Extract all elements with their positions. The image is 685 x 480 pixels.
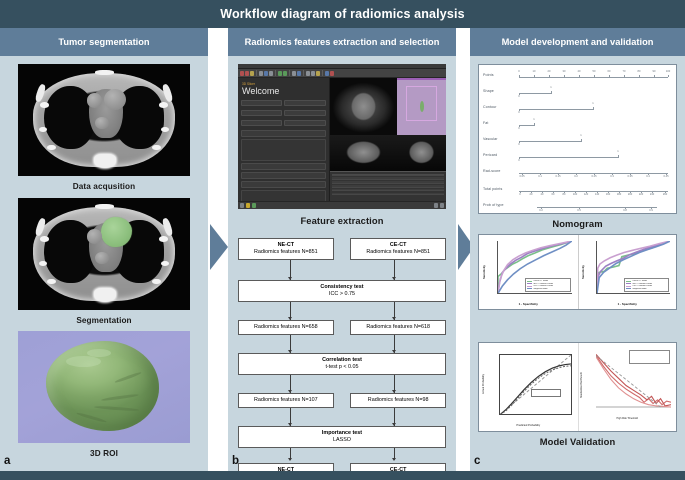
panel-b-body: 3D Slicer Welcome: [228, 56, 456, 471]
slicer-section-data-probe[interactable]: [241, 181, 326, 188]
panel-a-header-label: Tumor segmentation: [54, 37, 153, 47]
nomogram-tick-label: 20: [530, 193, 533, 196]
panel-letter-b: b: [232, 455, 239, 467]
nomogram-tick-label: 240: [650, 193, 654, 196]
roc-x-axis-label: 1 - Specificity: [479, 302, 578, 306]
flow-node-consistency-test: Consistency test ICC > 0.75: [238, 280, 446, 302]
toolbar-icon-layout[interactable]: [292, 71, 296, 76]
panel-b-header: Radiomics features extraction and select…: [228, 28, 456, 56]
ct-image-segmentation: [18, 198, 190, 310]
nomogram-tick-label: 40: [578, 70, 581, 73]
status-icon-memory: [434, 203, 438, 208]
decision-curve-x-axis-label: High Risk Threshold: [579, 417, 677, 420]
roc-legend-validation: Clinical CT model NE-CT radiomics model …: [624, 278, 669, 292]
nomogram-row-vascular: Vascular 0 1: [479, 133, 676, 149]
roc-curves-card: Sensitivity Clinical CT model: [478, 234, 677, 310]
nomogram-tick-label: 0: [518, 111, 519, 114]
nomogram-tick-label: 100: [666, 70, 670, 73]
nomogram-tick-label: 0.4: [646, 175, 650, 178]
flow-node-ce-ct-98: Radiomics features N=98: [350, 393, 446, 408]
features-table-row: [332, 193, 444, 196]
nomogram-tick-label: 0.15: [555, 175, 560, 178]
panel-a-body: Data acqusition Seg: [0, 56, 208, 471]
nomogram-tick-label: 0: [518, 95, 519, 98]
nomogram-row-label: Points: [483, 73, 494, 77]
flow-node-title: CE-CT: [390, 242, 406, 249]
nomogram-tick-label: 0.3: [610, 175, 614, 178]
slicer-features-table[interactable]: [330, 171, 446, 201]
roc-legend-training: Clinical CT model NE-CT radiomics model …: [525, 278, 570, 292]
nomogram-tick-label: 20: [548, 70, 551, 73]
panel-c-header-label: Model development and validation: [498, 37, 658, 47]
flow-node-title: Importance test: [322, 430, 362, 437]
toolbar-icon-modules[interactable]: [259, 71, 263, 76]
slicer-button-load-data[interactable]: [284, 100, 325, 106]
nomogram-rows: Points 0 10 20 30 40 50 60 70 80 90 100: [479, 65, 676, 213]
flow-node-ne-ct-start: NE-CT Radiomics features N=851: [238, 238, 334, 260]
slicer-welcome-text: Welcome: [242, 86, 279, 96]
calibration-plot: Predicted Probability Actual Probability: [479, 343, 578, 431]
flow-node-detail: ICC > 0.75: [329, 291, 355, 298]
panel-letter-a: a: [4, 455, 10, 467]
decision-curve-y-axis-label: Standardized Net Benefit: [581, 372, 583, 398]
flow-node-detail: Radiomics features N=851: [254, 249, 318, 256]
nomogram-row-label: Shape: [483, 89, 494, 93]
nomogram-tick-label: 30: [563, 70, 566, 73]
radiomics-workflow-figure: Workflow diagram of radiomics analysis T…: [0, 0, 685, 480]
caption-data-acquisition: Data acqusition: [0, 182, 208, 191]
nomogram-tick-label: 0: [518, 127, 519, 130]
flow-node-ne-ct-658: Radiomics features N=658: [238, 320, 334, 335]
nomogram-tick-label: 0.45: [663, 175, 668, 178]
nomogram-row-total-points: Total points 0 20 40 60 80 100 120 140 1…: [479, 183, 676, 199]
model-validation-card: Predicted Probability Actual Probability: [478, 342, 677, 432]
flow-node-detail: LASSO: [333, 437, 351, 444]
caption-3d-roi: 3D ROI: [0, 449, 208, 458]
flow-node-ce-ct-start: CE-CT Radiomics features N=851: [350, 238, 446, 260]
viewport-coronal[interactable]: [330, 135, 398, 172]
nomogram-row-label: Total points: [483, 187, 502, 191]
status-icon-error-log[interactable]: [246, 203, 250, 208]
nomogram-tick-label: 1: [550, 86, 551, 89]
nomogram-tick-label: 90: [653, 70, 656, 73]
nomogram-row-points: Points 0 10 20 30 40 50 60 70 80 90 100: [479, 69, 676, 85]
status-icon-python[interactable]: [240, 203, 244, 208]
slicer-about-text: [241, 139, 326, 161]
nomogram-tick-label: 160: [606, 193, 610, 196]
slicer-section-other[interactable]: [241, 163, 326, 170]
nomogram-tick-label: 1: [533, 118, 534, 121]
status-icon-progress: [252, 203, 256, 208]
nomogram-tick-label: 60: [552, 193, 555, 196]
nomogram-tick-label: 0.8: [623, 209, 627, 212]
nomogram-tick-label: 1: [617, 150, 618, 153]
flow-node-title: NE-CT: [278, 242, 294, 249]
roc-y-axis-label: Sensitivity: [581, 265, 585, 279]
status-icon-cursor: [440, 203, 444, 208]
nomogram-row-contour: Contour 0 1: [479, 101, 676, 117]
roc-y-axis-label: Sensitivity: [482, 265, 486, 279]
panel-c-body: Points 0 10 20 30 40 50 60 70 80 90 100: [470, 56, 685, 471]
panel-model-development-validation: Model development and validation Points …: [470, 28, 685, 471]
nomogram-row-pericard: Pericard 0 1: [479, 149, 676, 165]
toolbar-icon-help[interactable]: [330, 71, 334, 76]
legend-item: Integrated model: [626, 287, 667, 290]
legend-series-name: Integrated model: [632, 288, 646, 290]
toolbar-icon-module-select[interactable]: [264, 71, 268, 76]
nomogram-tick-label: 10: [533, 70, 536, 73]
nomogram-row-label: Rad-score: [483, 169, 500, 173]
toolbar-icon-load[interactable]: [240, 71, 244, 76]
flow-node-detail: Radiomics features N=107: [254, 397, 318, 404]
nomogram-tick-label: 50: [593, 70, 596, 73]
nomogram-row-shape: Shape 0 1: [479, 85, 676, 101]
flow-node-detail: Radiomics features N=98: [368, 397, 429, 404]
viewport-sagittal[interactable]: [397, 135, 446, 172]
roi-3d-rendering: [18, 331, 190, 443]
nomogram-plot: Points 0 10 20 30 40 50 60 70 80 90 100: [478, 64, 677, 214]
nomogram-tick-label: 0.5: [577, 209, 581, 212]
nomogram-tick-label: 80: [638, 70, 641, 73]
flow-node-detail: t-test p < 0.05: [325, 364, 358, 371]
toolbar-icon-undo[interactable]: [278, 71, 282, 76]
nomogram-row-label: Fat: [483, 121, 489, 125]
nomogram-tick-label: 70: [623, 70, 626, 73]
nomogram-tick-label: 80: [563, 193, 566, 196]
nomogram-tick-label: 0: [518, 159, 519, 162]
caption-model-validation: Model Validation: [470, 436, 685, 447]
flow-node-ne-ct-107: Radiomics features N=107: [238, 393, 334, 408]
nomogram-tick-label: 0.05: [519, 175, 524, 178]
caption-feature-extraction: Feature extraction: [228, 215, 456, 226]
nomogram-tick-label: 0.2: [574, 175, 578, 178]
ct-image-data-acquisition: [18, 64, 190, 176]
nomogram-row-fat: Fat 0 1: [479, 117, 676, 133]
slicer-button-download-sample[interactable]: [241, 110, 282, 116]
nomogram-tick-label: 0: [519, 193, 520, 196]
nomogram-tick-label: 0: [518, 143, 519, 146]
toolbar-icon-mouse-mode[interactable]: [306, 71, 310, 76]
nomogram-tick-label: 1: [580, 134, 581, 137]
slicer-toolbar: [238, 69, 446, 78]
slicer-welcome-heading: 3D Slicer Welcome: [238, 78, 329, 98]
nomogram-tick-label: 40: [541, 193, 544, 196]
features-table-row: [332, 185, 444, 188]
calibration-x-axis-label: Predicted Probability: [479, 424, 578, 427]
toolbar-icon-search[interactable]: [269, 71, 273, 76]
panel-a-header: Tumor segmentation: [0, 28, 208, 56]
nomogram-tick-label: 0.1: [538, 175, 542, 178]
roc-plot-training: Sensitivity Clinical CT model: [479, 235, 578, 309]
slicer-status-bar: [238, 201, 446, 209]
slicer-section-acknowledgment[interactable]: [241, 172, 326, 179]
flow-node-title: Consistency test: [320, 284, 363, 291]
calibration-y-axis-label: Actual Probability: [482, 374, 485, 394]
nomogram-tick-label: 0.25: [591, 175, 596, 178]
flow-node-correlation-test: Correlation test t-test p < 0.05: [238, 353, 446, 375]
toolbar-icon-save[interactable]: [245, 71, 249, 76]
toolbar-icon-markups[interactable]: [311, 71, 315, 76]
caption-nomogram: Nomogram: [470, 218, 685, 229]
flow-node-detail: Radiomics features N=658: [254, 324, 318, 331]
figure-title: Workflow diagram of radiomics analysis: [220, 7, 464, 21]
roc-x-axis-label: 1 - Specificity: [579, 302, 677, 306]
arrow-a-to-b: [208, 222, 230, 272]
slicer-button-customize[interactable]: [241, 120, 282, 126]
toolbar-icon-screenshot[interactable]: [316, 71, 320, 76]
nomogram-tick-label: 0.35: [627, 175, 632, 178]
nomogram-row-label: Pericard: [483, 153, 497, 157]
nomogram-tick-label: 120: [584, 193, 588, 196]
features-table-row: [332, 177, 444, 180]
nomogram-row-label: Contour: [483, 105, 497, 109]
nomogram-tick-label: 180: [617, 193, 621, 196]
flow-node-detail: Radiomics features N=618: [366, 324, 430, 331]
nomogram-row-label: Prob of type: [483, 203, 504, 207]
slicer-section-about[interactable]: [241, 130, 326, 137]
roc-plot-validation: Sensitivity Clinical CT model: [578, 235, 677, 309]
toolbar-icon-dcm[interactable]: [250, 71, 254, 76]
slicer-module-panel: 3D Slicer Welcome: [238, 78, 330, 201]
legend-series-name: Integrated model: [533, 288, 547, 290]
nomogram-tick-label: 260: [663, 193, 667, 196]
nomogram-row-label: Vascular: [483, 137, 498, 141]
slicer-application-screenshot: 3D Slicer Welcome: [238, 64, 446, 209]
panel-letter-c: c: [474, 455, 480, 467]
slicer-button-radiomics[interactable]: [284, 110, 325, 116]
toolbar-icon-crosshair[interactable]: [297, 71, 301, 76]
toolbar-icon-capture[interactable]: [325, 71, 329, 76]
nomogram-tick-label: 1: [592, 102, 593, 105]
legend-item: Integrated model: [527, 287, 568, 290]
viewport-axial[interactable]: [330, 78, 398, 135]
panel-feature-extraction-selection: Radiomics features extraction and select…: [228, 28, 456, 471]
flow-node-title: Correlation test: [322, 357, 362, 364]
decision-curve-plot: High Risk Threshold Standardized Net Ben…: [578, 343, 677, 431]
nomogram-tick-label: 0.2: [539, 209, 543, 212]
nomogram-row-prob-of-type: Prob of type 0.2 0.5 0.8 0.9: [479, 199, 676, 215]
features-table-row: [332, 181, 444, 184]
figure-title-bar: Workflow diagram of radiomics analysis: [0, 0, 685, 28]
nomogram-tick-label: 60: [608, 70, 611, 73]
nomogram-row-rad-score: Rad-score 0.05 0.1 0.15 0.2 0.25 0.3 0.3…: [479, 165, 676, 181]
flow-node-detail: Radiomics features N=851: [366, 249, 430, 256]
viewport-3d[interactable]: [397, 78, 446, 135]
nomogram-tick-label: 100: [573, 193, 577, 196]
features-table-row: [332, 189, 444, 192]
panel-b-header-label: Radiomics features extraction and select…: [241, 37, 444, 47]
tumor-roi-overlay: [101, 217, 132, 247]
flow-node-ce-ct-618: Radiomics features N=618: [350, 320, 446, 335]
caption-segmentation: Segmentation: [0, 316, 208, 325]
feature-selection-flowchart: NE-CT Radiomics features N=851 CE-CT Rad…: [238, 238, 446, 453]
nomogram-tick-label: 140: [595, 193, 599, 196]
nomogram-tick-label: 220: [639, 193, 643, 196]
nomogram-tick-label: 200: [628, 193, 632, 196]
figure-footer-bar: [0, 471, 685, 480]
slicer-button-restore[interactable]: [284, 120, 325, 126]
slicer-viewport-area: [330, 78, 446, 201]
decision-curve-legend: [629, 350, 670, 364]
features-table-header: [332, 174, 444, 177]
slicer-button-load-dicom[interactable]: [241, 100, 282, 106]
panel-c-header: Model development and validation: [470, 28, 685, 56]
panel-tumor-segmentation: Tumor segmentation: [0, 28, 208, 471]
toolbar-icon-redo[interactable]: [283, 71, 287, 76]
flow-node-importance-test: Importance test LASSO: [238, 426, 446, 448]
nomogram-tick-label: 0: [518, 70, 519, 73]
nomogram-tick-label: 0.9: [649, 209, 653, 212]
